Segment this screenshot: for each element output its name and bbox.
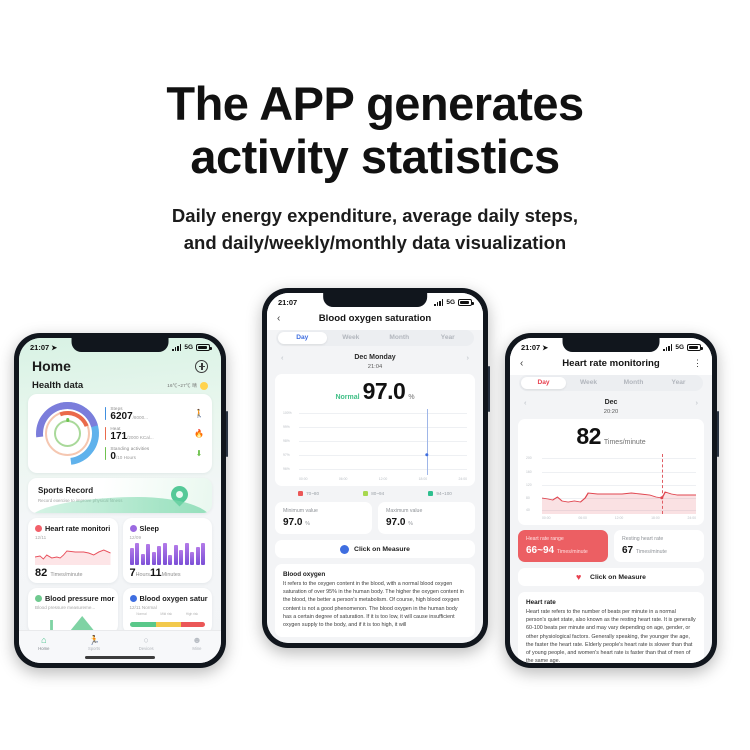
- ytick-2: 98%: [283, 439, 290, 443]
- network-label: 5G: [446, 299, 455, 306]
- navbar: ‹ Blood oxygen saturation: [267, 309, 483, 330]
- ytick-0: 100%: [283, 411, 292, 415]
- ox-label-high: High risk: [186, 612, 198, 616]
- minimum-number: 97.0: [283, 517, 302, 528]
- flame-icon: 🔥: [194, 429, 204, 438]
- reading-value: 97.0: [363, 380, 406, 403]
- tab-week[interactable]: Week: [327, 332, 376, 344]
- reading-unit: %: [408, 394, 414, 401]
- blood-oxygen-chart-card: Normal 97.0 % 100% 99% 98% 97%: [275, 374, 475, 486]
- sleep-mini-title: Sleep: [140, 524, 159, 533]
- notch: [72, 338, 169, 352]
- heat-value: 171/2000 KCal...: [110, 431, 190, 442]
- measure-circle-icon: [340, 545, 349, 554]
- heart-rate-area-series: [542, 454, 696, 514]
- moon-icon: [130, 525, 137, 532]
- standing-ring-dot: [66, 418, 70, 422]
- status-time: 21:07: [30, 343, 49, 352]
- ytick-1: 160: [526, 470, 532, 474]
- resting-heart-rate-number: 67: [622, 545, 633, 556]
- home-screen: 21:07 ➤ 5G Home Health data: [19, 338, 221, 663]
- reading-unit: Times/minute: [604, 439, 646, 446]
- phone-middle: 21:07 5G ‹ Blood oxygen saturation Day W: [262, 288, 488, 648]
- maximum-value: 97.0 %: [386, 517, 467, 528]
- minimum-value-label: Minimum value: [283, 508, 364, 515]
- heart-rate-mini-value: 82 Times/minute: [35, 567, 111, 579]
- current-date-label: Dec: [605, 399, 618, 406]
- walking-icon: 🚶: [194, 409, 204, 418]
- current-date-label: Dec Monday: [354, 354, 395, 361]
- cellular-bars-icon: [663, 344, 672, 351]
- xtick-4: 24:00: [459, 477, 468, 481]
- heart-rate-sparkline: [35, 543, 111, 565]
- xtick-1: 06:00: [578, 516, 587, 520]
- phone-left-screen: 21:07 ➤ 5G Home Health data: [19, 338, 221, 663]
- health-data-label: Health data: [32, 380, 83, 391]
- mini-cards-grid: Heart rate monitori 12/11 82 Times/minut…: [28, 518, 212, 634]
- battery-full-icon: [196, 344, 210, 351]
- heat-goal: /2000 KCal...: [127, 435, 154, 440]
- battery-full-icon: [687, 344, 701, 351]
- standing-ring: [54, 420, 81, 447]
- phones-showcase: 21:07 ➤ 5G Home Health data: [0, 0, 750, 750]
- info-text: Heart rate refers to the number of beats…: [526, 608, 696, 663]
- blood-oxygen-screen: 21:07 5G ‹ Blood oxygen saturation Day W: [267, 293, 483, 643]
- tab-month[interactable]: Month: [375, 332, 424, 344]
- stat-steps: Steps 6207/8000... 🚶: [105, 406, 204, 422]
- maximum-unit: %: [408, 521, 413, 527]
- heart-rate-range-unit: Times/minute: [557, 549, 588, 555]
- stat-heat: Heat 171/2000 KCal... 🔥: [105, 426, 204, 442]
- heart-rate-range-card: Heart rate range 66~94 Times/minute: [518, 530, 608, 562]
- sleep-mini-card[interactable]: Sleep 12/09 7Hours11Minutes: [123, 518, 213, 583]
- notch: [323, 293, 427, 307]
- measure-button-label: Click on Measure: [354, 546, 410, 553]
- blood-pressure-mini-subtitle: Blood pressure measureme...: [35, 605, 111, 610]
- steps-color-bar: [105, 407, 106, 420]
- status-left: 21:07 ➤: [30, 343, 57, 352]
- ytick-3: 97%: [283, 453, 290, 457]
- screen-title: Blood oxygen saturation: [291, 313, 459, 324]
- reading-value: 82: [576, 425, 601, 448]
- data-point: [425, 453, 428, 456]
- reading-marker-line: [427, 409, 428, 475]
- heart-rate-mini-header: Heart rate monitori: [35, 524, 111, 533]
- standing-goal: /10 Hours: [116, 455, 136, 460]
- status-right: 5G: [172, 344, 210, 351]
- tab-home[interactable]: ⌂ Home: [38, 636, 49, 652]
- cellular-bars-icon: [172, 344, 181, 351]
- reading-time: 21:04: [267, 364, 483, 370]
- legend-mid-label: 80~94: [371, 491, 384, 496]
- sleep-mini-header: Sleep: [130, 524, 206, 533]
- blood-oxygen-bar-labels: Normal Mild risk High risk: [130, 612, 206, 616]
- tab-devices[interactable]: ○ Devices: [139, 636, 154, 652]
- period-tabs: Day Week Month Year: [519, 375, 703, 391]
- sleep-minutes: 11: [150, 567, 162, 579]
- xtick-2: 12:00: [615, 516, 624, 520]
- tab-sports[interactable]: 🏃 Sports: [88, 636, 100, 652]
- stat-standing: Standing activities 0/10 Hours ⬇: [105, 446, 204, 462]
- minimum-value-card: Minimum value 97.0 %: [275, 502, 372, 534]
- sleep-minutes-unit: Minutes: [162, 572, 181, 578]
- shoe-icon: 🏃: [88, 636, 99, 645]
- sleep-hours-unit: Hours: [136, 572, 150, 578]
- info-title: Heart rate: [526, 599, 696, 606]
- status-left: 21:07: [278, 298, 297, 307]
- xtick-0: 00:00: [299, 477, 308, 481]
- activity-rings-card[interactable]: Steps 6207/8000... 🚶 Heat: [28, 394, 212, 473]
- ytick-0: 200: [526, 456, 532, 460]
- xtick-2: 12:00: [379, 477, 388, 481]
- notch: [563, 338, 660, 352]
- status-time: 21:07: [278, 298, 297, 307]
- network-label: 5G: [184, 344, 193, 351]
- maximum-value-card: Maximum value 97.0 %: [378, 502, 475, 534]
- measure-button[interactable]: ♥ Click on Measure: [518, 568, 704, 586]
- blood-oxygen-mini-title: Blood oxygen satur: [140, 594, 208, 603]
- tab-month[interactable]: Month: [611, 377, 656, 389]
- drop-icon: [35, 595, 42, 602]
- heart-icon: ♥: [576, 573, 585, 582]
- tab-year[interactable]: Year: [424, 332, 473, 344]
- ytick-1: 99%: [283, 425, 290, 429]
- heat-number: 171: [110, 431, 127, 442]
- prev-date-button[interactable]: ‹: [281, 353, 284, 362]
- tab-devices-label: Devices: [139, 646, 154, 651]
- standing-color-bar: [105, 447, 106, 460]
- next-date-button[interactable]: ›: [696, 398, 699, 407]
- legend-item-mid: 80~94: [363, 491, 384, 496]
- blood-oxygen-info-card: Blood oxygen It refers to the oxygen con…: [275, 564, 475, 637]
- maximum-number: 97.0: [386, 517, 405, 528]
- xtick-3: 18:00: [651, 516, 660, 520]
- legend-low-label: 70~80: [306, 491, 319, 496]
- heart-rate-mini-date: 12/11: [35, 535, 111, 540]
- blood-oxygen-mini-header: Blood oxygen satur: [130, 594, 206, 603]
- heart-rate-screen: 21:07 ➤ 5G ‹ Heart rate monitoring ⋮ Da: [510, 338, 712, 663]
- heart-rate-range-label: Heart rate range: [526, 536, 600, 543]
- heart-rate-number: 82: [35, 567, 47, 579]
- resting-heart-rate-value: 67 Times/minute: [622, 545, 696, 556]
- ox-label-mild: Mild risk: [160, 612, 172, 616]
- resting-heart-rate-label: Resting heart rate: [622, 536, 696, 543]
- blood-oxygen-mini-card[interactable]: Blood oxygen satur 12/11 Normal Normal M…: [123, 588, 213, 634]
- heart-rate-mini-card[interactable]: Heart rate monitori 12/11 82 Times/minut…: [28, 518, 118, 583]
- tab-year[interactable]: Year: [656, 377, 701, 389]
- watch-icon: ○: [143, 636, 148, 645]
- ytick-4: 40: [526, 508, 530, 512]
- min-max-cards: Minimum value 97.0 % Maximum value 97.0 …: [275, 502, 475, 534]
- steps-value: 6207/8000...: [110, 411, 190, 422]
- phone-right: 21:07 ➤ 5G ‹ Heart rate monitoring ⋮ Da: [505, 333, 717, 668]
- next-date-button[interactable]: ›: [466, 353, 469, 362]
- circle-icon: [130, 595, 137, 602]
- blood-oxygen-xaxis: 00:00 06:00 12:00 18:00 24:00: [283, 477, 467, 481]
- network-label: 5G: [675, 344, 684, 351]
- xtick-0: 00:00: [542, 516, 551, 520]
- ytick-3: 80: [526, 496, 530, 500]
- heart-icon: [35, 525, 42, 532]
- info-text: It refers to the oxygen content in the b…: [283, 580, 467, 629]
- heart-rate-unit: Times/minute: [50, 572, 82, 578]
- ytick-2: 120: [526, 483, 532, 487]
- tab-sports-label: Sports: [88, 646, 100, 651]
- measure-button-label: Click on Measure: [590, 574, 646, 581]
- screen-title: Heart rate monitoring: [534, 358, 688, 369]
- home-title: Home: [32, 358, 71, 374]
- status-time: 21:07: [521, 343, 540, 352]
- status-right: 5G: [434, 299, 472, 306]
- xtick-1: 06:00: [339, 477, 348, 481]
- phone-middle-screen: 21:07 5G ‹ Blood oxygen saturation Day W: [267, 293, 483, 643]
- steps-main: Steps 6207/8000...: [110, 406, 190, 422]
- heat-main: Heat 171/2000 KCal...: [110, 426, 190, 442]
- weather-widget: 16℃~27℃ 晴: [167, 382, 208, 390]
- period-tabs: Day Week Month Year: [276, 330, 474, 346]
- standing-main: Standing activities 0/10 Hours: [110, 446, 190, 462]
- chart-legend: 70~80 80~94 94~100: [276, 491, 474, 496]
- steps-goal: /8000...: [133, 415, 148, 420]
- sleep-bar-chart: [130, 543, 206, 565]
- tab-week[interactable]: Week: [566, 377, 611, 389]
- sports-record-card[interactable]: Sports Record Record exercise to improve…: [28, 478, 212, 513]
- blood-pressure-mini-header: Blood pressure mor: [35, 594, 111, 603]
- tab-mine-label: Mine: [192, 646, 201, 651]
- standing-value: 0/10 Hours: [110, 451, 190, 462]
- date-navigator: ‹ Dec Monday ›: [267, 351, 483, 362]
- minimum-value: 97.0 %: [283, 517, 364, 528]
- sun-icon: [200, 382, 208, 390]
- weather-text: 16℃~27℃ 晴: [167, 383, 197, 389]
- xtick-3: 18:00: [419, 477, 428, 481]
- ox-label-normal: Normal: [136, 612, 146, 616]
- heart-rate-plot: 200 160 120 80 40: [526, 454, 696, 514]
- blood-oxygen-range-bar: [130, 622, 206, 627]
- phone-left: 21:07 ➤ 5G Home Health data: [14, 333, 226, 668]
- phone-right-screen: 21:07 ➤ 5G ‹ Heart rate monitoring ⋮ Da: [510, 338, 712, 663]
- resting-heart-rate-unit: Times/minute: [636, 549, 667, 555]
- plus-circle-icon[interactable]: [195, 360, 208, 373]
- minimum-unit: %: [305, 521, 310, 527]
- ytick-4: 96%: [283, 467, 290, 471]
- tab-day[interactable]: Day: [521, 377, 566, 389]
- home-icon: ⌂: [41, 636, 46, 645]
- legend-item-high: 94~100: [428, 491, 451, 496]
- status-left: 21:07 ➤: [521, 343, 548, 352]
- tab-mine[interactable]: ☻ Mine: [192, 636, 201, 652]
- prev-date-button[interactable]: ‹: [524, 398, 527, 407]
- heart-rate-chart-card: 82 Times/minute 200 160 120 80 40: [518, 419, 704, 525]
- measure-button[interactable]: Click on Measure: [275, 540, 475, 558]
- chevron-left-icon[interactable]: ‹: [520, 358, 534, 369]
- navbar: ‹ Heart rate monitoring ⋮: [510, 354, 712, 375]
- cellular-bars-icon: [434, 299, 443, 306]
- tab-day[interactable]: Day: [278, 332, 327, 344]
- person-icon: ☻: [192, 636, 201, 645]
- blood-oxygen-plot: 100% 99% 98% 97% 96%: [283, 409, 467, 475]
- sleep-mini-value: 7Hours11Minutes: [130, 567, 206, 579]
- status-right: 5G: [663, 344, 701, 351]
- steps-number: 6207: [110, 411, 132, 422]
- location-arrow-icon: ➤: [51, 344, 57, 352]
- legend-high-label: 94~100: [436, 491, 451, 496]
- blood-pressure-chart: [35, 614, 111, 630]
- status-badge: Normal: [335, 394, 359, 401]
- reading-time: 20:20: [510, 409, 712, 415]
- heart-rate-info-card: Heart rate Heart rate refers to the numb…: [518, 592, 704, 663]
- maximum-value-label: Maximum value: [386, 508, 467, 515]
- heart-rate-mini-title: Heart rate monitori: [45, 524, 110, 533]
- reading-marker-line: [662, 454, 663, 514]
- info-title: Blood oxygen: [283, 571, 467, 578]
- legend-item-low: 70~80: [298, 491, 319, 496]
- date-navigator: ‹ Dec ›: [510, 396, 712, 407]
- stats-list: Steps 6207/8000... 🚶 Heat: [105, 406, 204, 462]
- blood-oxygen-reading: Normal 97.0 %: [283, 380, 467, 403]
- battery-full-icon: [458, 299, 472, 306]
- blood-pressure-mini-card[interactable]: Blood pressure mor Blood pressure measur…: [28, 588, 118, 634]
- home-header: Home: [19, 354, 221, 376]
- stand-icon: ⬇: [194, 449, 204, 458]
- blood-pressure-mini-title: Blood pressure mor: [45, 594, 114, 603]
- home-indicator: [85, 656, 155, 659]
- more-vertical-icon[interactable]: ⋮: [688, 358, 702, 369]
- location-arrow-icon: ➤: [542, 344, 548, 352]
- heart-rate-range-value: 66~94 Times/minute: [526, 545, 600, 556]
- blood-oxygen-mini-subtitle: 12/11 Normal: [130, 605, 206, 610]
- heart-rate-range-number: 66~94: [526, 545, 554, 556]
- xtick-4: 24:00: [688, 516, 697, 520]
- heat-color-bar: [105, 427, 106, 440]
- tab-home-label: Home: [38, 646, 49, 651]
- chevron-left-icon[interactable]: ‹: [277, 313, 291, 324]
- activity-rings: [36, 402, 99, 465]
- health-data-header: Health data 16℃~27℃ 晴: [19, 376, 221, 394]
- heart-rate-xaxis: 00:00 06:00 12:00 18:00 24:00: [526, 516, 696, 520]
- heart-rate-summary-cards: Heart rate range 66~94 Times/minute Rest…: [518, 530, 704, 562]
- sleep-mini-date: 12/09: [130, 535, 206, 540]
- heart-rate-reading: 82 Times/minute: [526, 425, 696, 448]
- resting-heart-rate-card: Resting heart rate 67 Times/minute: [614, 530, 704, 562]
